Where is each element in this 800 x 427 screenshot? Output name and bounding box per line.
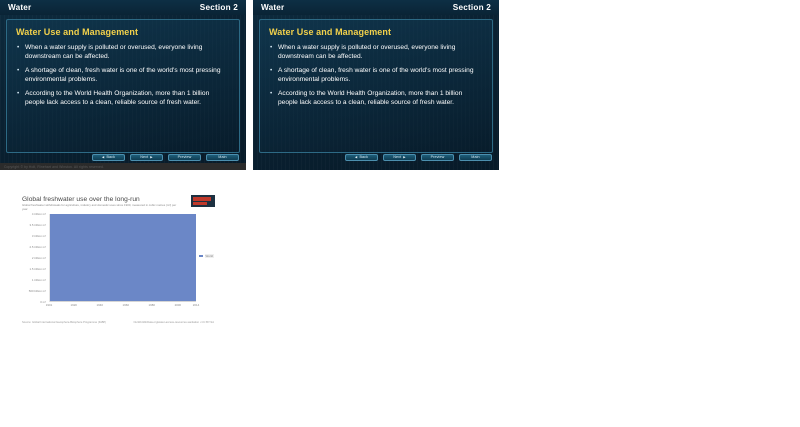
slide-title: Water Use and Management bbox=[269, 27, 483, 37]
screenshot-root: Water Section 2 Water Use and Management… bbox=[0, 0, 800, 427]
preview-button-label: Preview bbox=[178, 155, 192, 159]
x-axis-tick: 1980 bbox=[149, 303, 155, 307]
next-button-label: Next bbox=[140, 155, 148, 159]
main-button-label: Main bbox=[471, 155, 479, 159]
plot-area bbox=[49, 214, 196, 302]
list-item: A shortage of clean, fresh water is one … bbox=[16, 67, 230, 84]
preview-button[interactable]: Preview bbox=[168, 154, 201, 162]
slide-nav-bar: ◀ Back Next ▶ Preview Main bbox=[345, 154, 492, 162]
y-axis-tick: 3.5 trillion m³ bbox=[29, 223, 46, 227]
x-axis: 1901192019401960198020002014 bbox=[49, 303, 196, 311]
slide-footer: Copyright © by Holt, Rinehart and Winsto… bbox=[0, 163, 246, 170]
list-item: A shortage of clean, fresh water is one … bbox=[269, 67, 483, 84]
y-axis-tick: 2 trillion m³ bbox=[32, 256, 46, 260]
chart-header: Global freshwater use over the long-run … bbox=[18, 193, 218, 211]
chart-credit-text: OurWorldInData.org/water-access-resource… bbox=[133, 321, 214, 324]
chart-source-text: Source: Global International Geosphere-B… bbox=[22, 321, 106, 324]
slide-title: Water Use and Management bbox=[16, 27, 230, 37]
back-button[interactable]: ◀ Back bbox=[345, 154, 378, 162]
bullet-list: When a water supply is polluted or overu… bbox=[16, 44, 230, 108]
slide-content-frame: Water Use and Management When a water su… bbox=[6, 19, 240, 153]
slide-header-subject: Water bbox=[261, 3, 284, 12]
slide-header: Water Section 2 bbox=[253, 0, 499, 15]
preview-button-label: Preview bbox=[431, 155, 445, 159]
chart-legend: World bbox=[199, 254, 214, 258]
slide-header-subject: Water bbox=[8, 3, 31, 12]
slide-nav-bar: ◀ Back Next ▶ Preview Main bbox=[92, 154, 239, 162]
preview-button[interactable]: Preview bbox=[421, 154, 454, 162]
x-axis-line bbox=[50, 301, 196, 302]
right-arrow-icon: ▶ bbox=[403, 156, 406, 159]
list-item: According to the World Health Organizati… bbox=[269, 90, 483, 107]
next-button-label: Next bbox=[393, 155, 401, 159]
slide-thumbnail-left[interactable]: Water Section 2 Water Use and Management… bbox=[0, 0, 246, 170]
legend-label: World bbox=[205, 254, 215, 258]
x-axis-tick: 1920 bbox=[70, 303, 76, 307]
bullet-list: When a water supply is polluted or overu… bbox=[269, 44, 483, 108]
list-item: When a water supply is polluted or overu… bbox=[16, 44, 230, 61]
chart-subtitle: Global freshwater withdrawals for agricu… bbox=[22, 204, 180, 211]
x-axis-tick: 1940 bbox=[97, 303, 103, 307]
back-button-label: Back bbox=[106, 155, 115, 159]
x-axis-tick: 2014 bbox=[193, 303, 199, 307]
y-axis-tick: 3 trillion m³ bbox=[32, 234, 46, 238]
chart-footer: Source: Global International Geosphere-B… bbox=[22, 321, 214, 324]
slide-header-section: Section 2 bbox=[200, 3, 238, 12]
legend-swatch bbox=[199, 255, 203, 257]
left-arrow-icon: ◀ bbox=[355, 156, 358, 159]
back-button-label: Back bbox=[359, 155, 368, 159]
back-button[interactable]: ◀ Back bbox=[92, 154, 125, 162]
x-axis-tick: 1960 bbox=[123, 303, 129, 307]
slide-thumbnail-right[interactable]: Water Section 2 Water Use and Management… bbox=[253, 0, 499, 170]
owid-logo-icon bbox=[191, 195, 215, 207]
area-series-world bbox=[50, 214, 196, 302]
y-axis-tick: 500 billion m³ bbox=[29, 289, 46, 293]
main-button[interactable]: Main bbox=[459, 154, 492, 162]
next-button[interactable]: Next ▶ bbox=[130, 154, 163, 162]
x-axis-tick: 2000 bbox=[175, 303, 181, 307]
slide-header: Water Section 2 bbox=[0, 0, 246, 15]
main-button-label: Main bbox=[218, 155, 226, 159]
chart-plot-wrapper: 0 m³500 billion m³1 trillion m³1.5 trill… bbox=[22, 214, 214, 312]
slide-header-section: Section 2 bbox=[453, 3, 491, 12]
y-axis: 0 m³500 billion m³1 trillion m³1.5 trill… bbox=[22, 214, 48, 302]
main-button[interactable]: Main bbox=[206, 154, 239, 162]
slide-content-frame: Water Use and Management When a water su… bbox=[259, 19, 493, 153]
chart-title: Global freshwater use over the long-run bbox=[22, 196, 214, 203]
list-item: When a water supply is polluted or overu… bbox=[269, 44, 483, 61]
copyright-text: Copyright © by Holt, Rinehart and Winsto… bbox=[4, 165, 104, 169]
next-button[interactable]: Next ▶ bbox=[383, 154, 416, 162]
y-axis-tick: 1 trillion m³ bbox=[32, 278, 46, 282]
left-arrow-icon: ◀ bbox=[102, 156, 105, 159]
y-axis-tick: 2.5 trillion m³ bbox=[29, 245, 46, 249]
freshwater-use-chart: Global freshwater use over the long-run … bbox=[18, 193, 218, 328]
y-axis-tick: 4 trillion m³ bbox=[32, 212, 46, 216]
y-axis-tick: 1.5 trillion m³ bbox=[29, 267, 46, 271]
list-item: According to the World Health Organizati… bbox=[16, 90, 230, 107]
right-arrow-icon: ▶ bbox=[150, 156, 153, 159]
x-axis-tick: 1901 bbox=[46, 303, 52, 307]
